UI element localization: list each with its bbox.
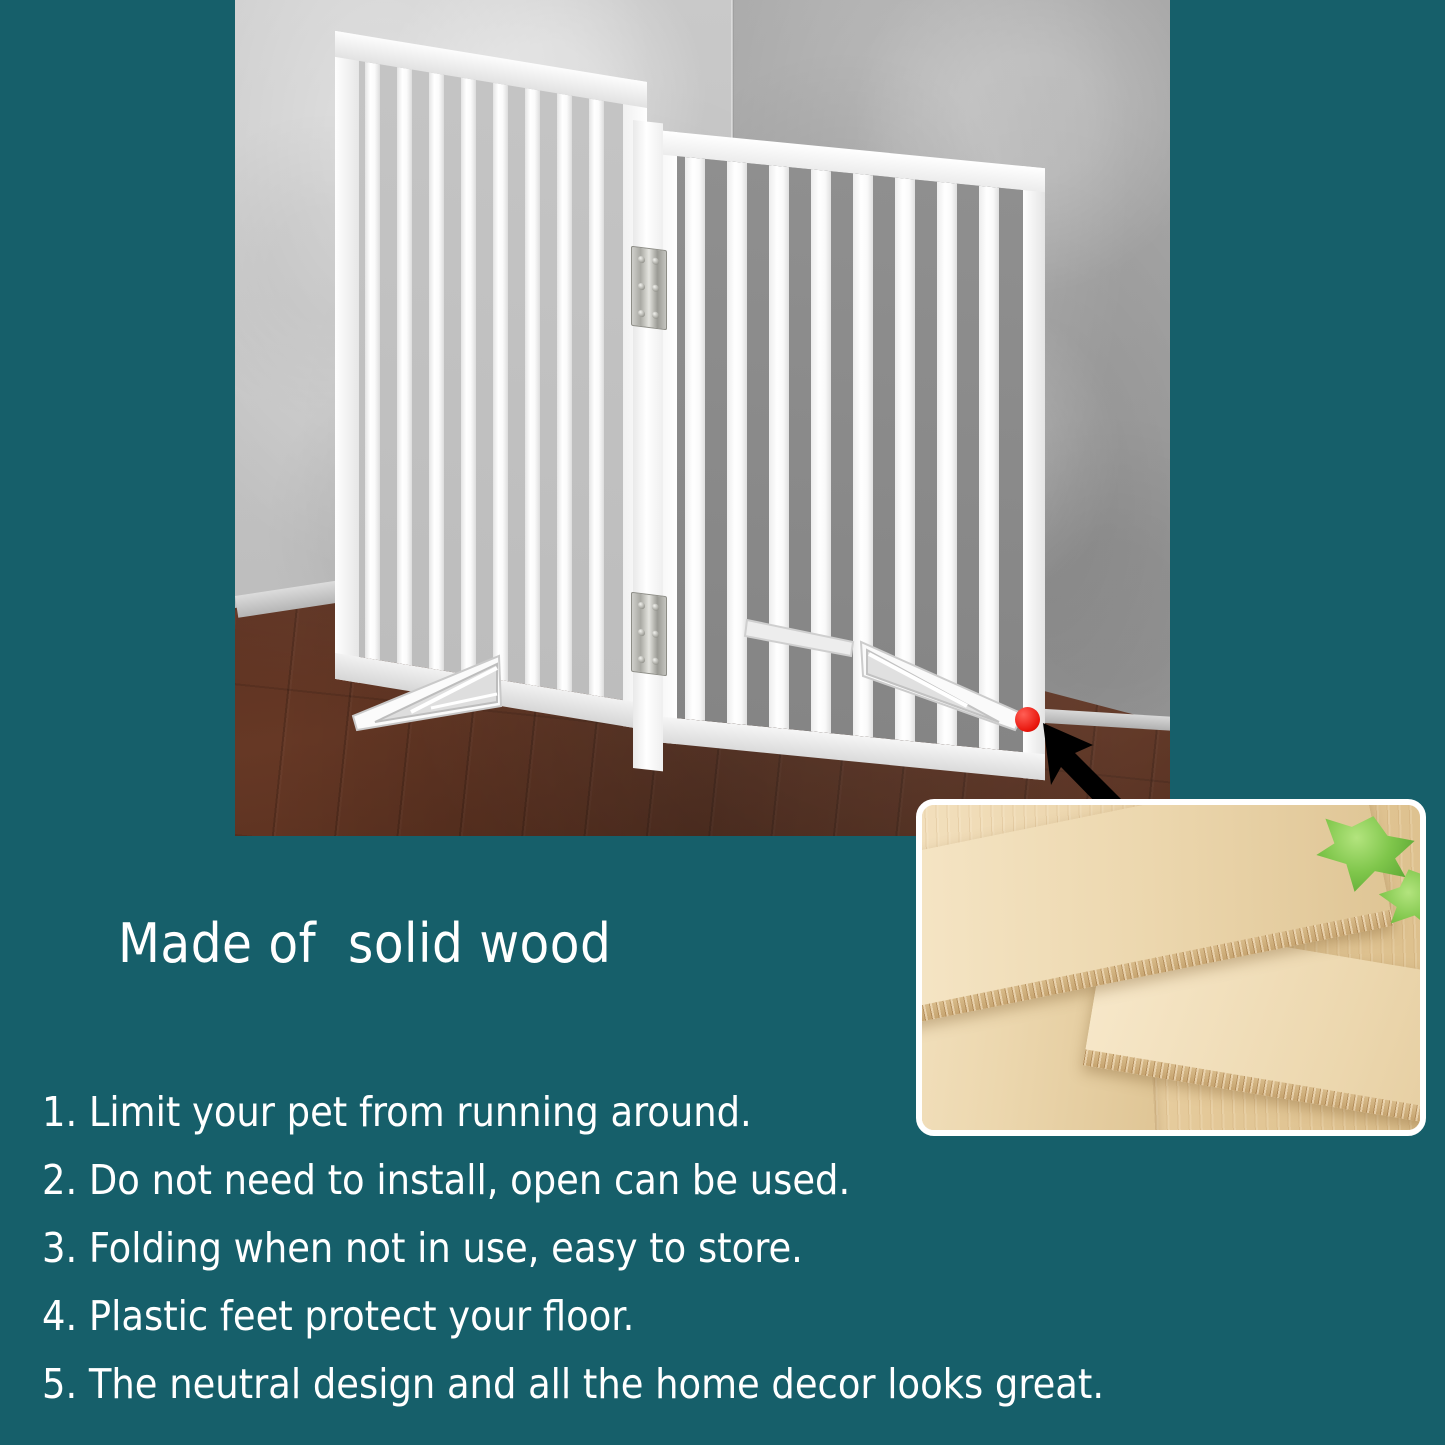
gate-slat	[685, 157, 705, 721]
hinge-screw	[638, 256, 645, 264]
page-headline: Made of solid wood	[118, 912, 611, 975]
hinge-screw	[652, 284, 659, 292]
hinge-upper	[631, 246, 667, 330]
benefit-item-2: 2. Do not need to install, open can be u…	[42, 1146, 1402, 1214]
benefit-item-3: 3. Folding when not in use, easy to stor…	[42, 1214, 1402, 1282]
hinge-lower	[631, 592, 667, 676]
gate-slat	[429, 72, 444, 670]
gate-slat	[397, 67, 412, 665]
hinge-screw	[652, 257, 659, 265]
gate-slat	[525, 88, 540, 686]
panel-left-stile-left	[335, 31, 359, 683]
gate-slat	[365, 62, 380, 660]
panel-left-slat-area	[359, 61, 623, 700]
hinge-screw	[652, 657, 659, 665]
plastic-foot-center	[743, 616, 863, 676]
hero-product-photo	[235, 0, 1170, 836]
gate-slat	[493, 83, 508, 681]
benefit-item-5: 5. The neutral design and all the home d…	[42, 1350, 1402, 1418]
hinge-screw	[638, 602, 645, 610]
plastic-foot-right	[847, 640, 1027, 750]
hinge-screw	[638, 656, 645, 664]
hinge-screw	[638, 629, 645, 637]
gate-panel-left	[335, 31, 647, 730]
hinge-screw	[652, 603, 659, 611]
hinge-screw	[638, 310, 645, 318]
benefit-item-1: 1. Limit your pet from running around.	[42, 1078, 1402, 1146]
plastic-foot-left	[351, 650, 511, 740]
hinge-screw	[652, 311, 659, 319]
benefit-item-4: 4. Plastic feet protect your floor.	[42, 1282, 1402, 1350]
gate-slat	[557, 93, 572, 691]
hinge-screw	[638, 283, 645, 291]
hinge-screw	[652, 630, 659, 638]
gate-slat	[589, 99, 604, 697]
benefits-list: 1. Limit your pet from running around. 2…	[42, 1078, 1402, 1418]
gate-slat	[461, 78, 476, 676]
